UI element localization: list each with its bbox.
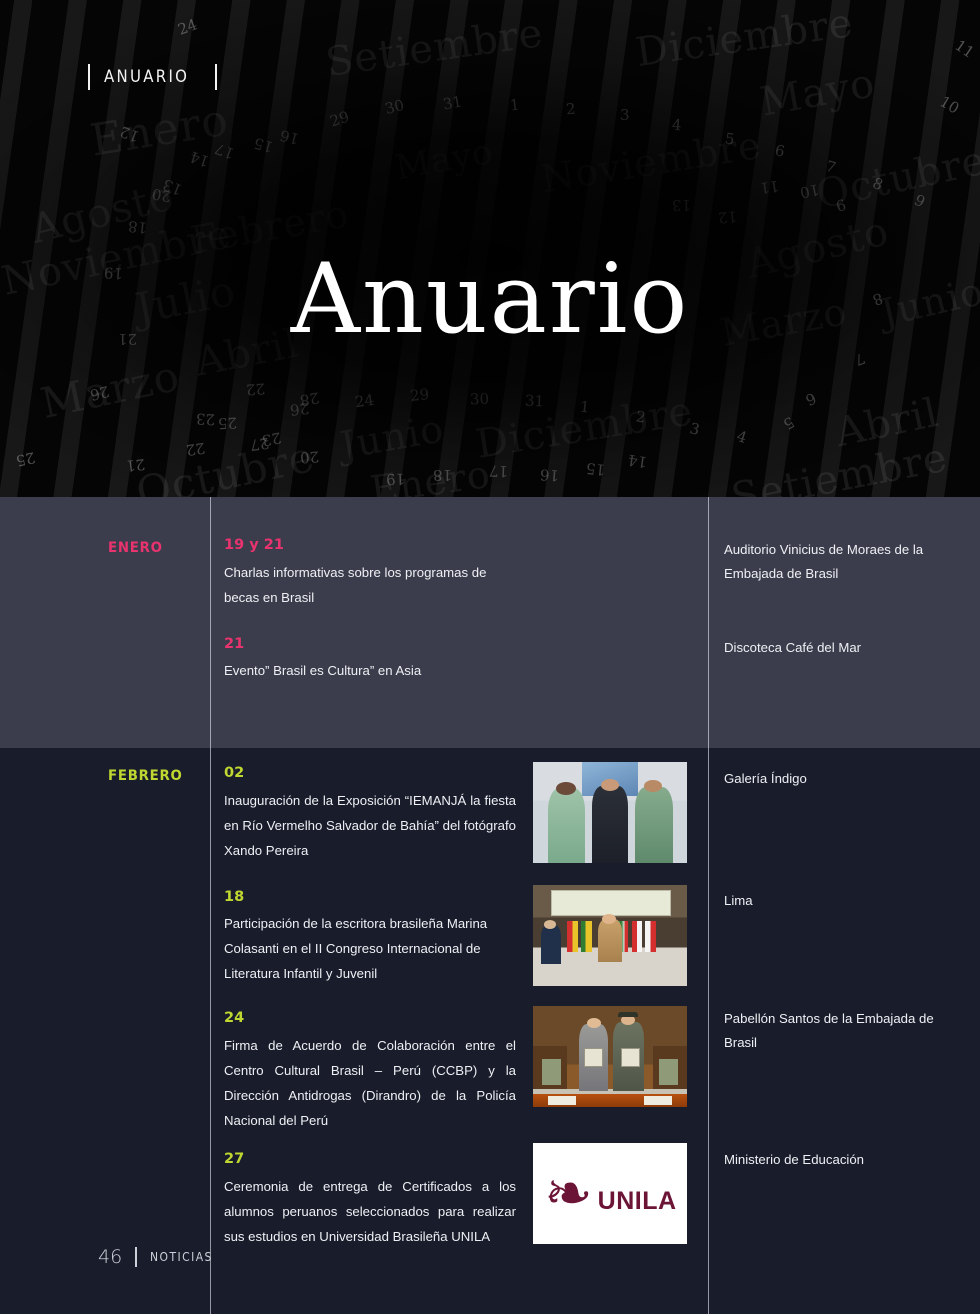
certificate-right: [621, 1048, 640, 1066]
paper-left: [548, 1096, 576, 1105]
entry-description: Participación de la escritora brasileña …: [224, 911, 516, 986]
section-label-text: ANUARIO: [104, 67, 189, 87]
footer-separator: [135, 1247, 137, 1267]
person-right: [635, 787, 674, 863]
chair-right: [659, 1059, 677, 1085]
entry-day: 19 y 21: [224, 537, 284, 553]
page-title: Anuario: [0, 243, 980, 355]
page-footer: 46 NOTICIAS: [98, 1246, 220, 1268]
person-center: [592, 786, 629, 863]
military-cap-icon: [618, 1012, 638, 1017]
chair-left: [542, 1059, 560, 1085]
section-label: ANUARIO: [88, 64, 217, 90]
unila-wordmark: UNILA: [598, 1187, 677, 1216]
entry-day: 02: [224, 765, 244, 781]
photo-agreement-signing: [533, 1006, 687, 1107]
column-divider-2: [708, 497, 709, 748]
paper-right: [644, 1096, 672, 1105]
anuario-page: AgostoSetiembreMayoEneroFebreroMayoNovie…: [0, 0, 980, 1314]
flag-4: [632, 921, 643, 951]
entry-description: Ceremonia de entrega de Certificados a l…: [224, 1174, 516, 1249]
column-divider-2: [708, 748, 709, 1314]
label-bar-right: [215, 64, 217, 90]
entry-venue: Auditorio Vinicius de Moraes de la Embaj…: [724, 538, 954, 586]
month-band-febrero: FEBRERO 02 Inauguración de la Exposición…: [0, 748, 980, 1314]
entry-venue: Lima: [724, 889, 954, 913]
entry-day: 24: [224, 1010, 244, 1026]
speaker-center: [598, 919, 623, 961]
label-bar-left: [88, 64, 90, 90]
entry-day: 18: [224, 889, 244, 905]
hero-header: AgostoSetiembreMayoEneroFebreroMayoNovie…: [0, 0, 980, 497]
month-name-febrero: FEBRERO: [108, 768, 183, 784]
official-civilian-head: [587, 1018, 601, 1028]
panelist-left: [541, 925, 561, 963]
column-divider-1: [210, 497, 211, 748]
entry-venue: Pabellón Santos de la Embajada de Brasil: [724, 1007, 954, 1055]
entry-description: Evento” Brasil es Cultura” en Asia: [224, 658, 516, 683]
entry-description: Firma de Acuerdo de Colaboración entre e…: [224, 1033, 516, 1133]
footer-section-name: NOTICIAS: [150, 1250, 213, 1264]
column-divider-1: [210, 748, 211, 1314]
month-name-enero: ENERO: [108, 540, 163, 556]
flag-2: [581, 921, 592, 951]
flag-5: [645, 921, 656, 951]
entry-description: Inauguración de la Exposición “IEMANJÁ l…: [224, 788, 516, 863]
stage-banner: [551, 890, 670, 916]
ornamental-swirl-icon: ❧: [542, 1151, 594, 1236]
entry-venue: Discoteca Café del Mar: [724, 636, 954, 660]
flag-1: [567, 921, 578, 951]
photo-congress-panel: [533, 885, 687, 986]
entry-venue: Galería Índigo: [724, 767, 954, 791]
unila-logo: ❧ UNILA: [533, 1143, 687, 1244]
entry-day: 27: [224, 1151, 244, 1167]
entry-day: 21: [224, 636, 244, 652]
certificate-left: [584, 1048, 603, 1066]
month-band-enero: ENERO 19 y 21 Charlas informativas sobre…: [0, 497, 980, 748]
person-left: [548, 788, 585, 863]
entry-venue: Ministerio de Educación: [724, 1148, 954, 1172]
page-number: 46: [98, 1246, 122, 1268]
entry-description: Charlas informativas sobre los programas…: [224, 560, 516, 610]
photo-exhibition-opening: [533, 762, 687, 863]
